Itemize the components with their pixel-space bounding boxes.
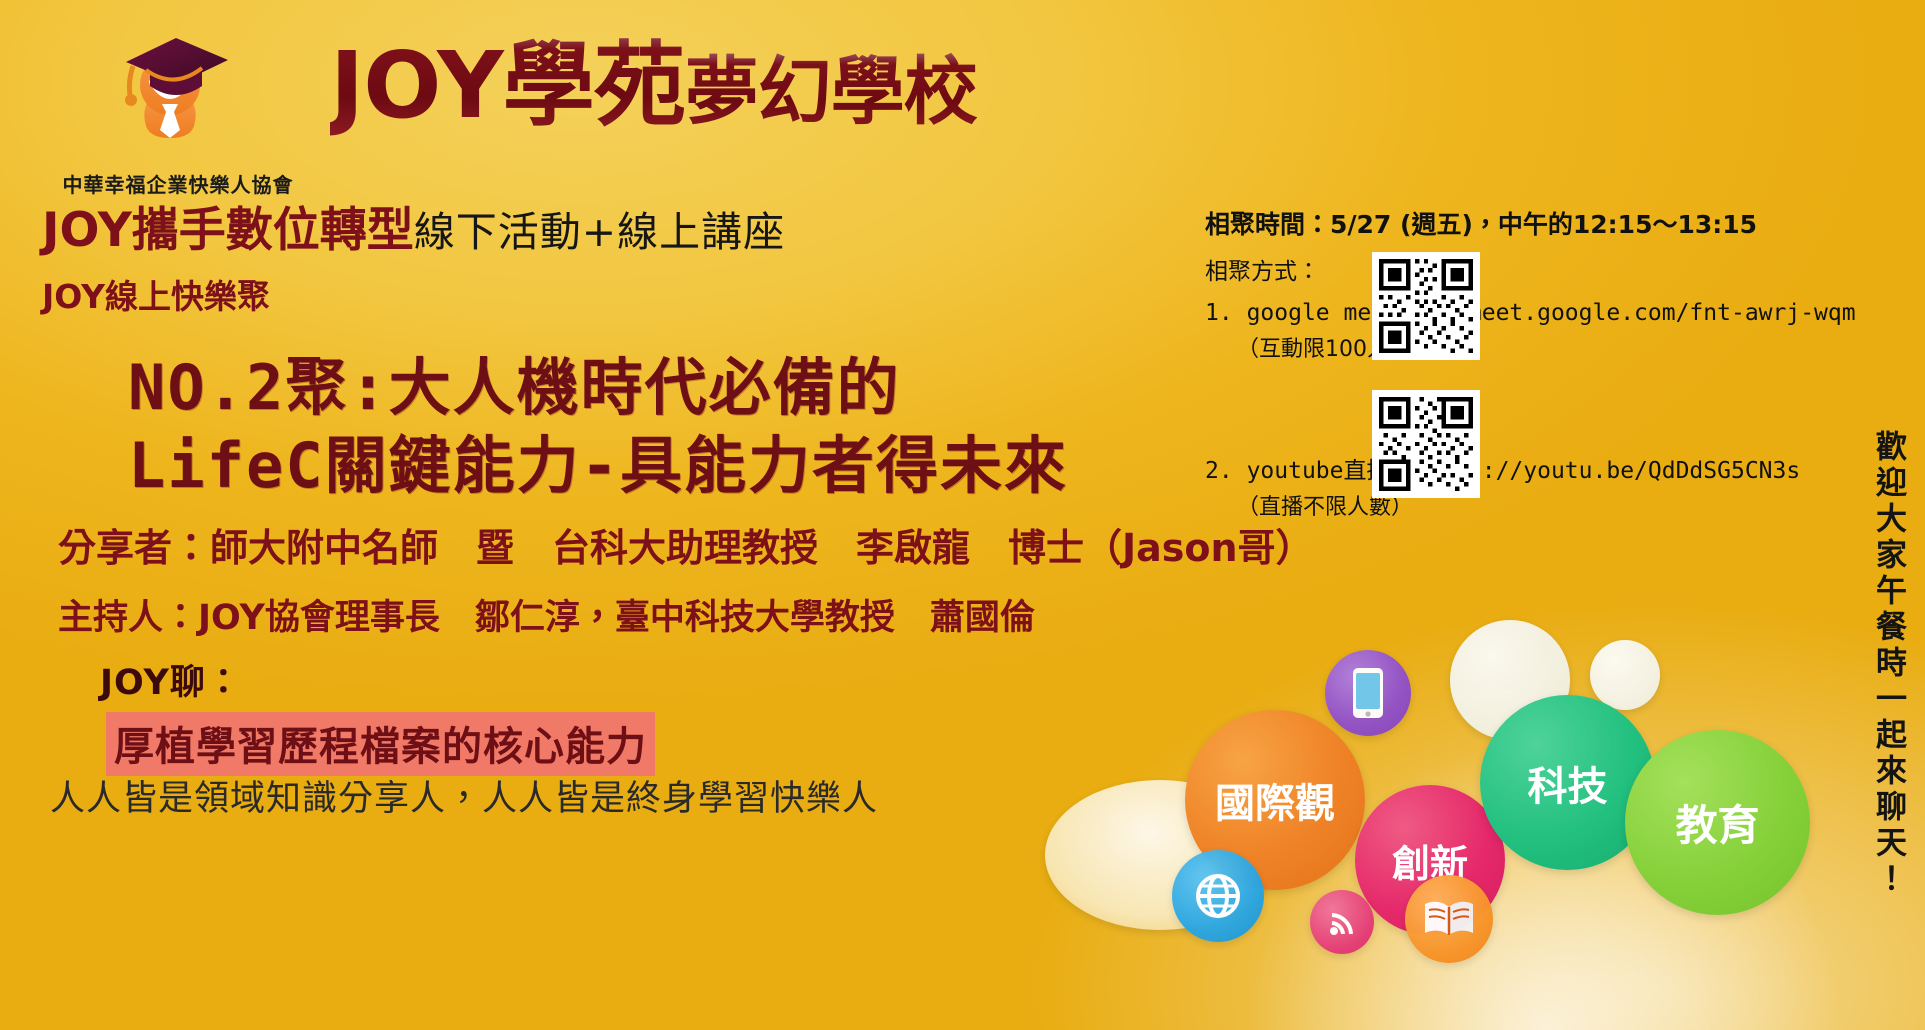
meeting-link-item-1[interactable]: 1. google meet連結：meet.google.com/fnt-awr… [1205,293,1865,327]
title-main: JOY學苑 [330,32,685,139]
session-title-line1: NO.2聚:大人機時代必備的 [128,337,901,427]
bubble-label-education: 教育 [1675,792,1759,853]
session-title-line2: LifeC關鍵能力-具能力者得未來 [128,415,1068,505]
page-title: JOY學苑夢幻學校 [330,40,977,132]
joy-talk-topic-row: 厚植學習歷程檔案的核心能力 [106,712,655,776]
item-text-2[interactable]: youtube直播：https://youtu.be/QdDdSG5CN3s [1247,458,1801,484]
item-note-2: （直播不限人數） [1237,489,1865,521]
decor-bubble-white-small [1590,640,1660,710]
series-name: JOY線上快樂聚 [42,270,270,318]
tagline: 人人皆是領域知識分享人，人人皆是終身學習快樂人 [50,770,878,821]
host-line: 主持人：JOY協會理事長 鄒仁淳，臺中科技大學教授 蕭國倫 [58,589,1035,640]
bubble-label-international: 國際觀 [1215,771,1335,829]
meeting-info-block: 相聚時間：5/27 (週五)，中午的12:15～13:15 相聚方式： 1. g… [1205,205,1865,521]
association-logo: 中華幸福企業快樂人協會 [28,30,328,195]
item-text-1[interactable]: google meet連結：meet.google.com/fnt-awrj-w… [1247,300,1856,326]
bubble-education[interactable]: 教育 [1625,730,1810,915]
globe-bubble [1172,850,1264,942]
phone-bubble [1325,650,1411,736]
campaign-light: 線下活動+線上講座 [414,208,785,256]
book-bubble [1405,875,1493,963]
keyword-bubbles: 國際觀 創新 科技 教育 [1230,770,1925,1030]
globe-icon [1192,870,1244,922]
joy-talk-topic: 厚植學習歷程檔案的核心能力 [106,712,655,776]
wifi-bubble [1310,890,1374,954]
mobile-phone-icon [1351,666,1385,720]
meeting-time: 相聚時間：5/27 (週五)，中午的12:15～13:15 [1205,205,1865,241]
meeting-time-label: 相聚時間： [1205,210,1330,239]
meeting-method-label: 相聚方式： [1205,252,1865,286]
title-sub: 夢幻學校 [685,49,977,135]
association-name: 中華幸福企業快樂人協會 [28,169,328,198]
open-book-icon [1421,897,1477,941]
meeting-link-item-2[interactable]: 2. youtube直播：https://youtu.be/QdDdSG5CN3… [1205,451,1865,485]
graduation-cap-mascot-icon [88,30,258,160]
poster-canvas: 中華幸福企業快樂人協會 JOY學苑夢幻學校 JOY攜手數位轉型線下活動+線上講座… [0,0,1925,1030]
wifi-signal-icon [1324,904,1360,940]
item-note-1: （互動限100人） [1237,331,1865,363]
item-index-1: 1. [1205,300,1233,326]
qr-code-youtube-live[interactable] [1372,390,1480,498]
speaker-line: 分享者：師大附中名師 暨 台科大助理教授 李啟龍 博士（Jason哥） [58,517,1314,572]
item-index-2: 2. [1205,458,1233,484]
bubble-label-technology: 科技 [1528,754,1608,812]
meeting-time-value: 5/27 (週五)，中午的12:15～13:15 [1330,210,1757,239]
qr-code-google-meet[interactable] [1372,252,1480,360]
joy-talk-label: JOY聊： [100,654,242,705]
campaign-strong: JOY攜手數位轉型 [42,203,414,258]
campaign-line: JOY攜手數位轉型線下活動+線上講座 [42,205,785,257]
